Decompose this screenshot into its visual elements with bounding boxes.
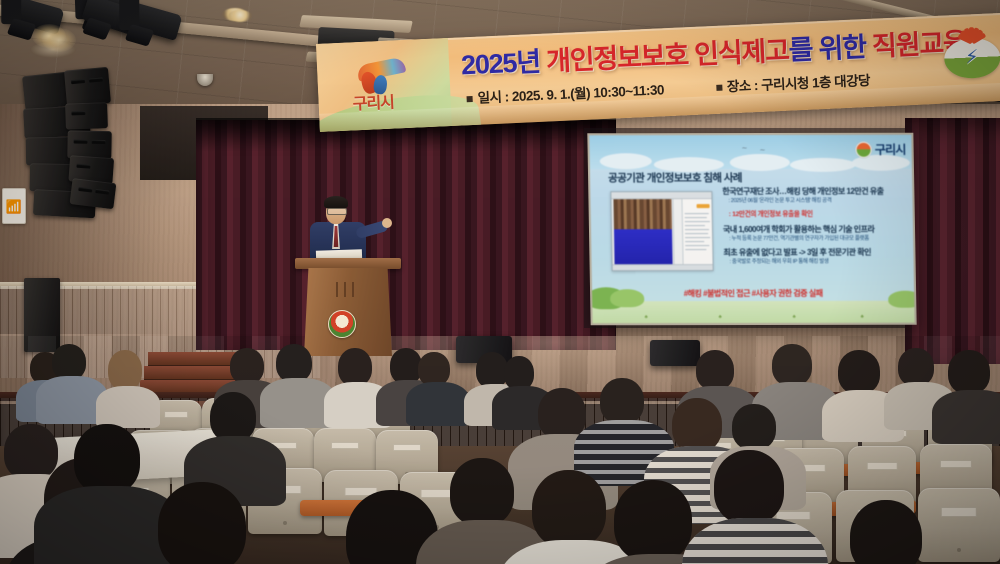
attendee-head — [74, 424, 140, 494]
slide-bullet-list: 한국연구재단 조사…해킹 당해 개인정보 12만건 유출 : 2025년 06월… — [722, 187, 906, 272]
stage-curtain-left — [196, 120, 616, 350]
attendee-head — [772, 344, 812, 386]
attendee-head — [450, 458, 514, 526]
sprout-icon: ♣ — [644, 314, 647, 320]
attendee-head — [850, 500, 922, 564]
sprout-icon: ♣ — [860, 314, 863, 320]
document-thumbnail — [681, 199, 712, 265]
wifi-icon: 📶 — [6, 200, 22, 213]
bullet-main-4: 최초 유출에 없다고 발표 -> 3일 후 전문기관 확인 — [723, 248, 905, 258]
attendee-head — [614, 480, 692, 562]
attendee-head — [158, 482, 246, 564]
sprout-icon: ♣ — [718, 314, 721, 320]
attendee-shoulders — [406, 382, 470, 426]
attendee-head — [210, 392, 256, 442]
slide-logo-text: 구리시 — [875, 141, 906, 158]
banner-title-year: 2025년 — [460, 47, 546, 81]
attendee-head — [838, 350, 880, 394]
attendee-head — [418, 352, 450, 386]
banner-title-rest: 를 위한 — [788, 32, 873, 66]
attendee-head — [52, 344, 86, 380]
slide-city-logo: 구리시 — [856, 141, 906, 158]
stage-curtain-right — [905, 118, 1000, 364]
attendee-head — [696, 350, 734, 390]
attendee-head — [672, 398, 722, 452]
bullet-sub-1: : 2025년 06월 '온라인 논문 투고 시스템' 해킹 공격 — [728, 198, 904, 205]
attendee-head — [732, 404, 776, 450]
auditorium-photo: 📶 ∼ ∼ 구리시 공공기관 개인정보보호 침해 사례 — [0, 0, 1000, 564]
lectern-city-seal-icon — [328, 310, 356, 338]
attendee-head — [948, 350, 990, 394]
bullet-main-1: 한국연구재단 조사…해킹 당해 개인정보 12만건 유출 — [722, 187, 904, 197]
attendee-head — [4, 424, 58, 480]
bullet-main-3: 국내 1,600여개 학회가 활용하는 핵심 기술 인프라 — [723, 224, 905, 234]
bullet-sub-3: : 누적 등록 논문 77만건, 역기관별의 연구자가 가입된 대규모 플랫폼 — [729, 235, 905, 242]
stage-monitor-speaker — [650, 340, 700, 366]
attendee-head — [600, 378, 644, 424]
attendee-head — [898, 348, 934, 386]
chair — [918, 488, 1000, 562]
attendee-head — [532, 470, 606, 548]
slide-screenshot-image — [610, 191, 713, 271]
spotlight-glow — [42, 28, 76, 52]
bullet-highlight-2: : 12만건의 개인정보 유출을 확인 — [729, 210, 905, 218]
bush-shape — [610, 289, 644, 307]
guri-city-emblem-icon: ⚡ — [940, 27, 1000, 88]
lectern — [300, 258, 396, 356]
attendee-head — [108, 350, 142, 390]
blue-panel-thumbnail — [614, 229, 673, 265]
bird-icon: ∼ — [760, 147, 766, 154]
presenter-hand — [382, 218, 392, 228]
line-array-speaker-stack — [13, 68, 132, 235]
sprout-icon: ♣ — [792, 314, 795, 320]
guri-city-logo: 구리시 — [341, 59, 425, 113]
lightning-bolt-icon: ⚡ — [965, 48, 979, 68]
attendee-head — [538, 388, 586, 440]
cloud-shape — [600, 153, 652, 169]
attendee-head — [230, 348, 264, 384]
attendee-shoulders — [932, 390, 1000, 444]
attendee-head — [504, 356, 534, 390]
bookshelf-thumbnail — [613, 199, 672, 229]
attendee-shoulders — [96, 386, 160, 428]
city-badge-icon — [856, 141, 872, 157]
attendee-head — [714, 450, 784, 524]
attendee-head — [338, 348, 372, 386]
bullet-sub-4: : 중국발로 주정되는 해외 우회 IP 통해 해킹 발생 — [730, 259, 906, 266]
bush-shape — [888, 291, 915, 308]
banner-title-highlight: 개인정보보호 인식제고 — [546, 36, 790, 77]
glasses-icon — [327, 208, 347, 215]
downlight-icon — [228, 10, 252, 22]
cloud-shape — [730, 154, 790, 171]
presentation-slide: ∼ ∼ 구리시 공공기관 개인정보보호 침해 사례 — [589, 135, 914, 324]
wifi-notice-sign: 📶 — [2, 188, 26, 224]
slide-title: 공공기관 개인정보보호 침해 사례 — [608, 170, 742, 185]
cloud-shape — [790, 158, 856, 172]
bird-icon: ∼ — [742, 145, 748, 152]
projection-screen: ∼ ∼ 구리시 공공기관 개인정보보호 침해 사례 — [587, 133, 916, 326]
attendee-head — [276, 344, 312, 382]
